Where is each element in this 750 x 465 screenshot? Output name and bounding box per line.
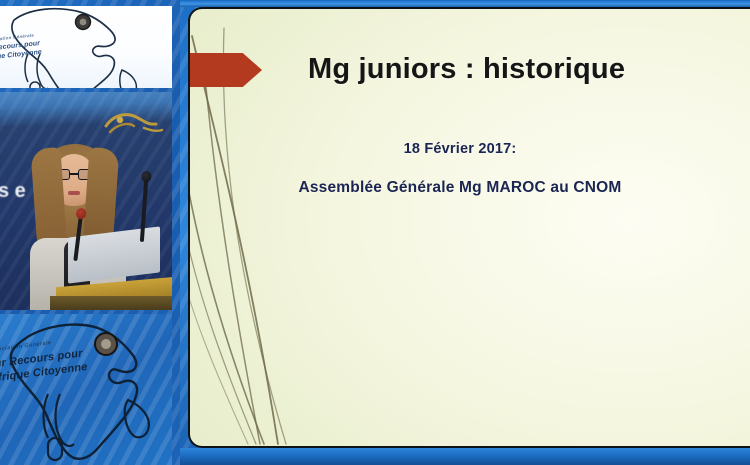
presentation-slide: Mg juniors : historique 18 Février 2017:… (188, 7, 750, 448)
frame-edge-bottom (180, 448, 750, 465)
organization-logo-top: Association Générale ur Recours pour fri… (0, 6, 172, 88)
slide-title: Mg juniors : historique (308, 53, 625, 86)
video-sidebar: Association Générale ur Recours pour fri… (0, 0, 180, 465)
speaker-lips (68, 191, 80, 195)
slide-body-line-2: Assemblée Générale Mg MAROC au CNOM (190, 179, 730, 197)
speaker-video-feed[interactable]: s e (0, 92, 172, 310)
backdrop-banner-letters: s e (0, 170, 26, 212)
slide-body-line-1: 18 Février 2017: (190, 141, 730, 157)
frame-edge-top (180, 0, 750, 7)
screenshot-root: Association Générale ur Recours pour fri… (0, 0, 750, 465)
grass-decoration-icon (190, 26, 370, 446)
organization-logo-bottom: Association Générale eur Recours pour Af… (0, 314, 172, 465)
slide-frame: Mg juniors : historique 18 Février 2017:… (180, 0, 750, 465)
slide-body: 18 Février 2017: Assemblée Générale Mg M… (190, 141, 730, 197)
podium-body (50, 296, 172, 310)
